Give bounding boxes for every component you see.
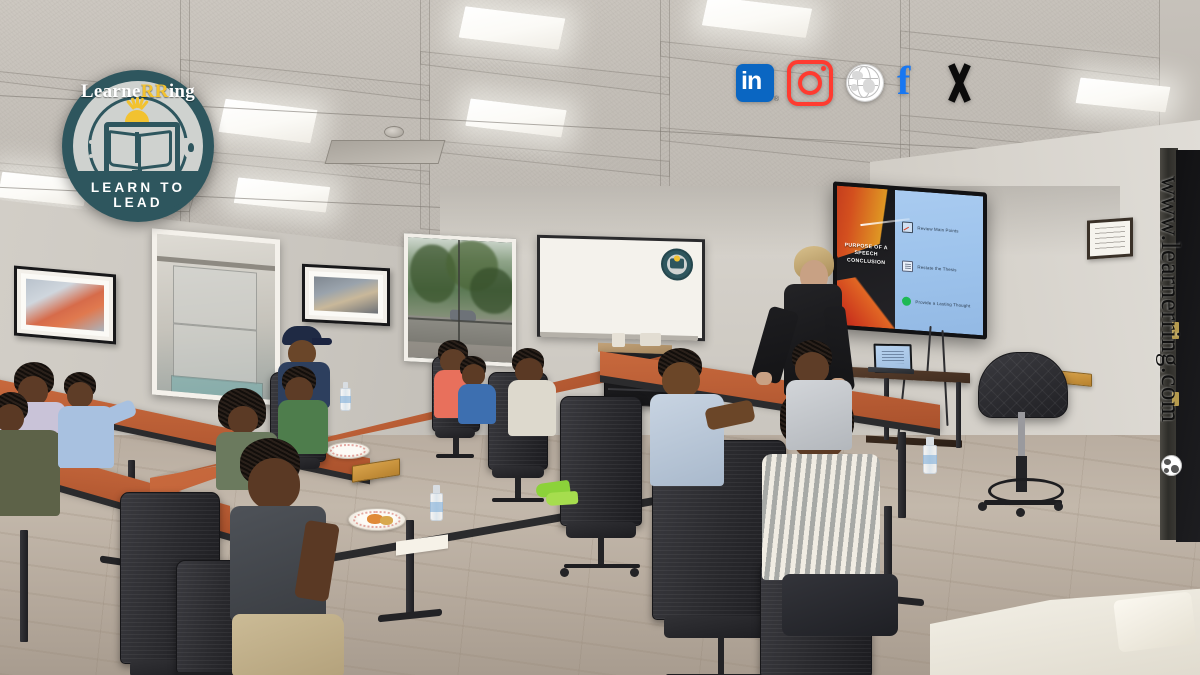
learnerring-logo-badge: LearneRRing LEARN TO LEAD [62, 70, 214, 222]
smoke-detector-icon [384, 126, 404, 138]
table-leg [20, 530, 28, 642]
logo-word-part2: RR [141, 81, 169, 102]
slide-title: PURPOSE OF A SPEECH CONCLUSION [841, 241, 892, 267]
social-icon-bar: in ® f [736, 60, 978, 106]
snack-plate [348, 508, 406, 531]
network-node-icon [79, 140, 93, 158]
student-body [786, 380, 852, 450]
table-leg [406, 520, 414, 616]
student-head [462, 364, 485, 386]
framed-certificate [1087, 217, 1133, 259]
student-head [0, 404, 24, 432]
slide-bullet: Review Main Points [902, 221, 977, 238]
slide-bullet-text: Review Main Points [917, 225, 958, 233]
student-head [662, 362, 700, 398]
instagram-icon[interactable] [787, 60, 833, 106]
logo-word-part3: ing [169, 81, 195, 102]
dropcloth-fold [1113, 591, 1197, 652]
slide-title-panel: PURPOSE OF A SPEECH CONCLUSION [837, 186, 895, 329]
x-twitter-icon[interactable] [940, 64, 978, 102]
classroom-photo: PURPOSE OF A SPEECH CONCLUSION Review Ma… [0, 0, 1200, 675]
ceiling-vent [325, 140, 446, 164]
logo-ribbon: LEARN TO LEAD [70, 171, 206, 213]
supplies-cup [612, 333, 625, 347]
khaki-shorts [232, 614, 344, 675]
facebook-icon[interactable]: f [897, 64, 927, 102]
website-url-watermark: www.learnerring.com [1155, 176, 1186, 423]
water-bottle [430, 485, 443, 521]
slide-bullet-text: Restate the Thesis [917, 264, 956, 272]
snack-plate [326, 442, 370, 459]
student-shorts [782, 574, 898, 636]
student-head [67, 382, 93, 408]
facebook-label: f [897, 61, 910, 101]
registered-mark: ® [774, 96, 779, 103]
slide-bullet: Provide a Lasting Thought [902, 296, 977, 311]
sneaker [546, 491, 579, 506]
student-head [228, 406, 258, 434]
presenter-hand [756, 372, 772, 385]
chart-icon [902, 221, 913, 233]
website-globe-icon[interactable] [846, 64, 884, 102]
linkedin-icon[interactable]: in ® [736, 64, 774, 102]
student-head [248, 458, 300, 510]
linkedin-label: in [741, 67, 761, 96]
student-body [508, 380, 556, 436]
slide-bullet: Restate the Thesis [902, 260, 977, 277]
book-spine [135, 132, 139, 163]
student-body [762, 454, 880, 580]
slide-bullets-panel: Review Main Points Restate the Thesis Pr… [895, 190, 983, 335]
whiteboard [537, 235, 705, 341]
interior-window [152, 228, 280, 405]
water-bottle [340, 382, 351, 411]
globe-icon [1161, 455, 1182, 476]
framed-helicopter-photo [14, 266, 116, 345]
podium-leg [956, 382, 961, 448]
document-icon [902, 260, 913, 272]
book-icon-right [138, 130, 172, 170]
tissue-box [640, 333, 661, 346]
whiteboard-logo-sticker [661, 248, 693, 281]
logo-tagline: LEARN TO LEAD [70, 180, 206, 210]
wall-mounted-tv[interactable]: PURPOSE OF A SPEECH CONCLUSION Review Ma… [833, 181, 987, 339]
water-bottle [923, 437, 937, 474]
slide-bullet-text: Provide a Lasting Thought [915, 299, 970, 308]
cap-brim [312, 338, 332, 345]
green-dot-icon [902, 296, 911, 306]
student-body [458, 384, 496, 424]
framed-osprey-photo [302, 264, 390, 327]
table-leg [898, 432, 906, 518]
